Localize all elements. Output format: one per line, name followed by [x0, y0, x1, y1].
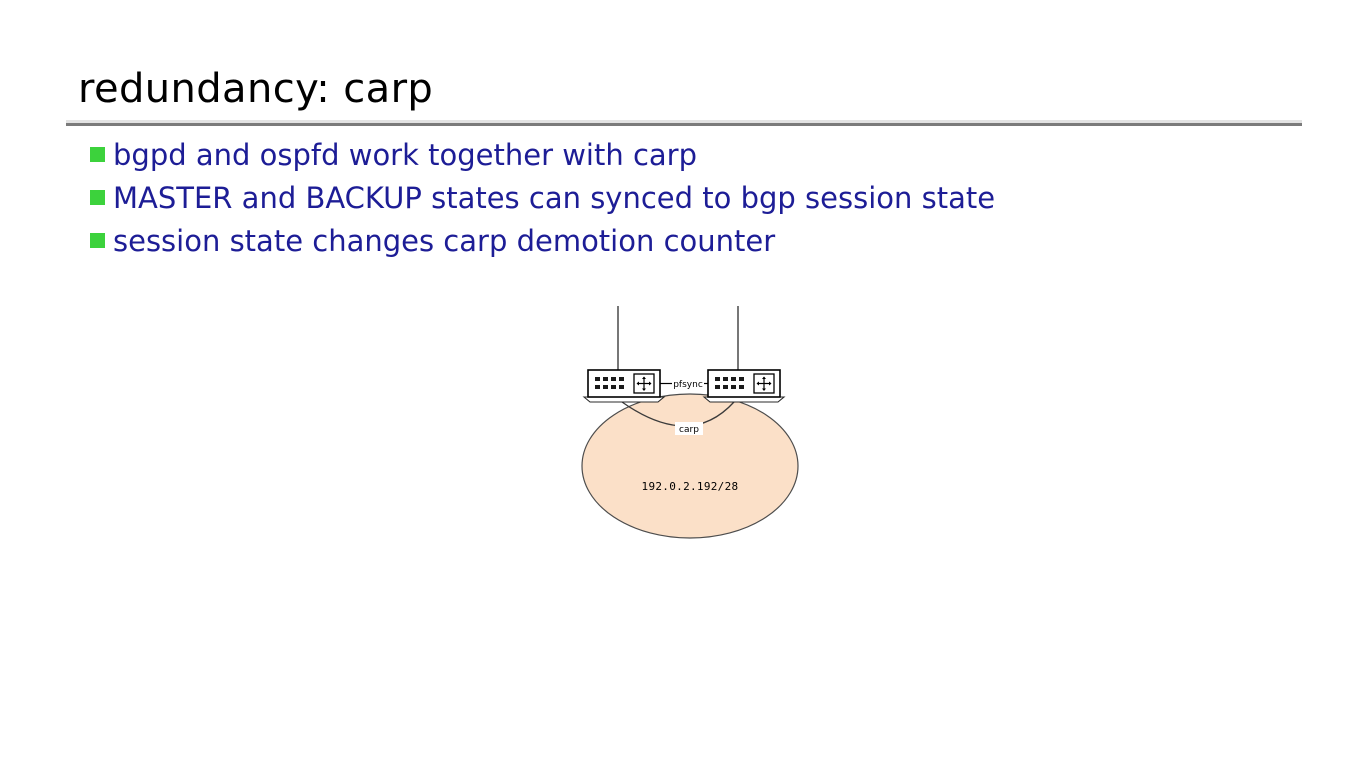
bullet-label: MASTER and BACKUP states can synced to b…: [113, 179, 995, 217]
square-bullet-icon: [90, 190, 105, 205]
bullet-label: bgpd and ospfd work together with carp: [113, 136, 697, 174]
pfsync-link: pfsync: [660, 377, 708, 390]
list-item: bgpd and ospfd work together with carp: [90, 136, 1240, 179]
bullet-label: session state changes carp demotion coun…: [113, 222, 775, 260]
pfsync-label: pfsync: [673, 380, 703, 390]
square-bullet-icon: [90, 147, 105, 162]
divider-shadow: [66, 123, 1302, 126]
list-item: session state changes carp demotion coun…: [90, 222, 1240, 265]
page-title: redundancy: carp: [78, 66, 433, 112]
square-bullet-icon: [90, 233, 105, 248]
firewall-left: [584, 370, 664, 402]
carp-label-group: carp: [675, 422, 703, 435]
network-diagram: pfsync carp 192.0.2.192/28: [560, 298, 820, 548]
network-prefix-label: 192.0.2.192/28: [642, 480, 739, 493]
router-badge-left: [634, 374, 654, 393]
title-divider: [66, 120, 1302, 126]
list-item: MASTER and BACKUP states can synced to b…: [90, 179, 1240, 222]
router-badge-right: [754, 374, 774, 393]
firewall-right: [704, 370, 784, 402]
carp-label: carp: [679, 425, 699, 435]
bullet-list: bgpd and ospfd work together with carp M…: [90, 136, 1240, 265]
network-cloud: [582, 394, 798, 538]
